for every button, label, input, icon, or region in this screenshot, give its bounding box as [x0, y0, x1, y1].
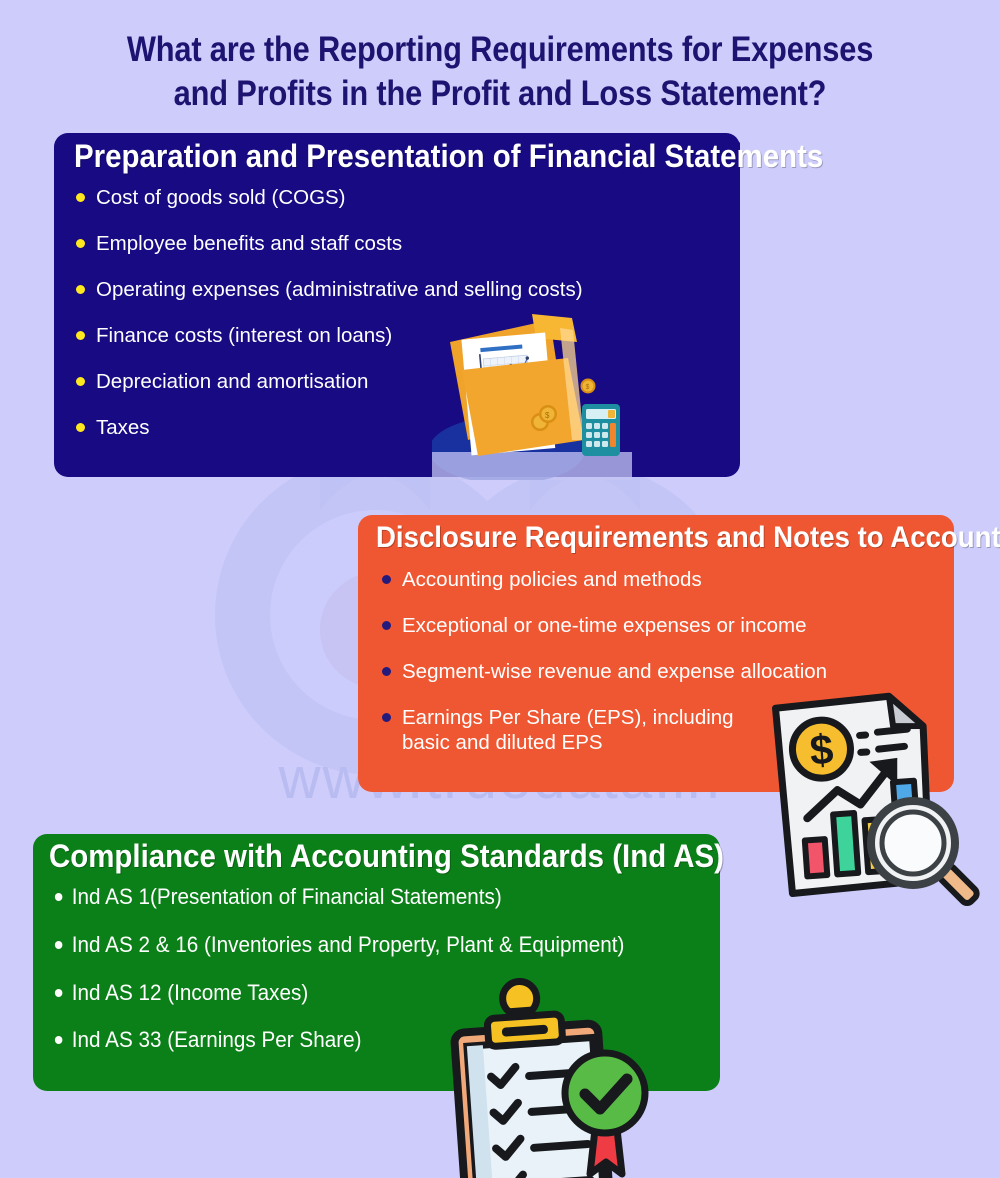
page-title: What are the Reporting Requirements for … [113, 28, 887, 116]
bullet-list-disclosure: Accounting policies and methods Exceptio… [380, 567, 934, 755]
list-item: Taxes [74, 415, 720, 440]
card-disclosure-requirements: Disclosure Requirements and Notes to Acc… [358, 515, 954, 792]
card-compliance-accounting-standards: Compliance with Accounting Standards (In… [33, 834, 720, 1091]
list-item: Ind AS 33 (Earnings Per Share) [53, 1027, 661, 1054]
list-item: Segment-wise revenue and expense allocat… [380, 659, 934, 684]
list-item: Ind AS 12 (Income Taxes) [53, 980, 661, 1007]
bullet-list-compliance: Ind AS 1(Presentation of Financial State… [53, 884, 700, 1054]
list-item: Finance costs (interest on loans) [74, 323, 720, 348]
list-item: Operating expenses (administrative and s… [74, 277, 720, 302]
card-header-disclosure: Disclosure Requirements and Notes to Acc… [376, 522, 1000, 554]
card-header-compliance: Compliance with Accounting Standards (In… [49, 840, 724, 874]
card-body-disclosure: Disclosure Requirements and Notes to Acc… [358, 515, 954, 792]
list-item: Earnings Per Share (EPS), including basi… [380, 705, 750, 755]
list-item: Employee benefits and staff costs [74, 231, 720, 256]
list-item: Ind AS 2 & 16 (Inventories and Property,… [53, 932, 661, 959]
list-item: Ind AS 1(Presentation of Financial State… [53, 884, 661, 911]
bullet-list-preparation: Cost of goods sold (COGS) Employee benef… [74, 185, 720, 440]
card-preparation-and-presentation: Preparation and Presentation of Financia… [54, 133, 740, 477]
card-body-preparation: Preparation and Presentation of Financia… [54, 133, 740, 477]
list-item: Exceptional or one-time expenses or inco… [380, 613, 934, 638]
list-item: Accounting policies and methods [380, 567, 934, 592]
list-item: Cost of goods sold (COGS) [74, 185, 720, 210]
card-header-preparation: Preparation and Presentation of Financia… [74, 140, 823, 174]
list-item: Depreciation and amortisation [74, 369, 720, 394]
card-body-compliance: Compliance with Accounting Standards (In… [33, 834, 720, 1091]
